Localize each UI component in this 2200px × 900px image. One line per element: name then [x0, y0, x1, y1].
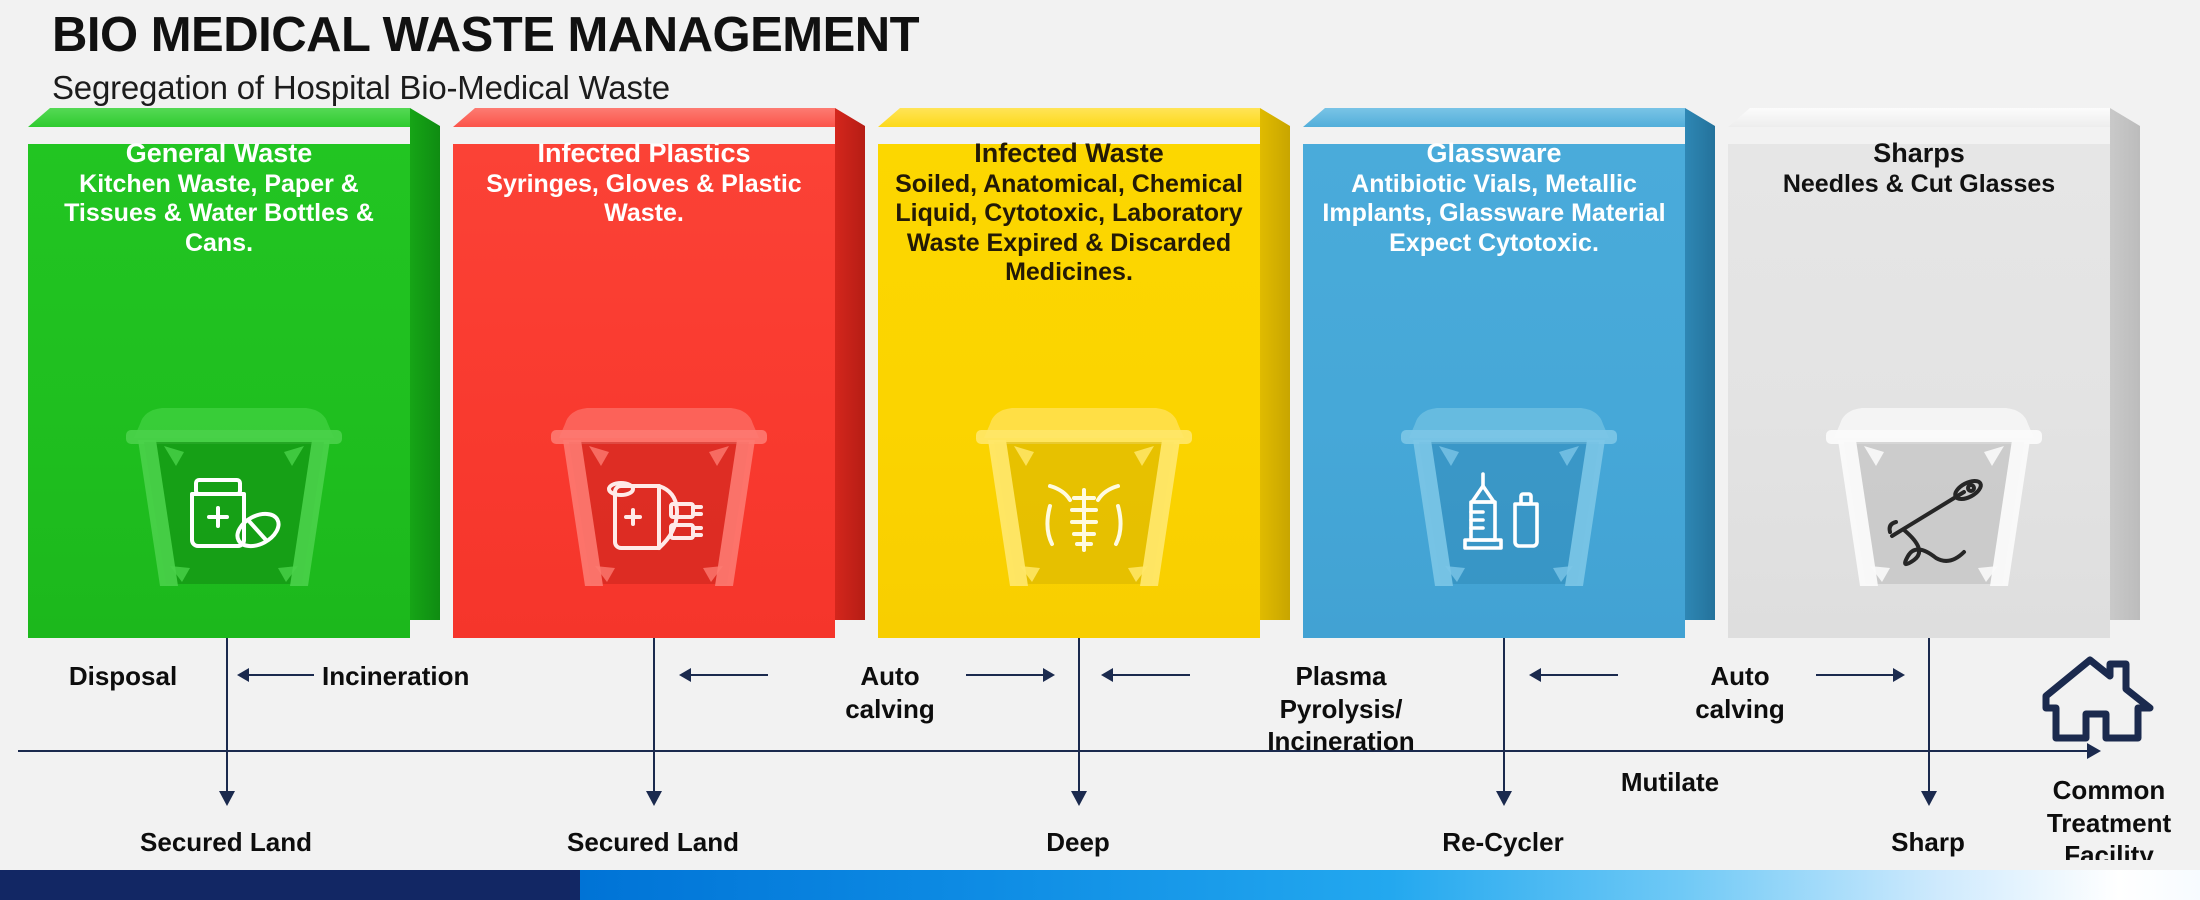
destination-common-treatment-facility: Common Treatment Facility: [2018, 774, 2200, 872]
arrow-left-autoclaving-1: [690, 674, 768, 676]
panel-bevel-side: [2110, 108, 2140, 620]
panel-bevel-side: [1685, 108, 1715, 620]
panel-bevel-side: [410, 108, 440, 620]
arrow-left-incineration: [248, 674, 314, 676]
label-incineration: Incineration: [322, 660, 582, 693]
drop-line-5: [1928, 638, 1930, 804]
bin-panel-glassware[interactable]: Glassware Antibiotic Vials, Metallic Imp…: [1303, 126, 1715, 638]
label-plasma-pyrolysis: Plasma Pyrolysis/ Incineration: [1206, 660, 1476, 758]
trash-bin-graphic-general-waste: [104, 394, 364, 599]
drop-line-1: [226, 638, 228, 804]
label-auto-calving-2: Auto calving: [1640, 660, 1840, 725]
panel-description: Kitchen Waste, Paper & Tissues & Water B…: [34, 170, 404, 259]
panel-title: Sharps: [1734, 138, 2104, 170]
panel-title: Glassware: [1309, 138, 1679, 170]
panel-title: Infected Waste: [884, 138, 1254, 170]
panel-text: Infected Plastics Syringes, Gloves & Pla…: [453, 138, 835, 229]
panel-bevel-top: [453, 108, 835, 127]
arrow-right-autoclaving-2: [1816, 674, 1894, 676]
arrow-left-autoclaving-2: [1540, 674, 1618, 676]
arrow-left-plasma-pyrolysis: [1112, 674, 1190, 676]
panel-text: Sharps Needles & Cut Glasses: [1728, 138, 2110, 199]
arrow-right-autoclaving-1: [966, 674, 1044, 676]
panel-bevel-top: [1728, 108, 2110, 127]
panel-bevel-top: [878, 108, 1260, 127]
panel-description: Syringes, Gloves & Plastic Waste.: [459, 170, 829, 229]
destination-re-cycler: Re-Cycler: [1383, 826, 1623, 859]
panel-description: Needles & Cut Glasses: [1734, 170, 2104, 200]
bin-panel-infected-waste[interactable]: Infected Waste Soiled, Anatomical, Chemi…: [878, 126, 1290, 638]
panel-title: General Waste: [34, 138, 404, 170]
bottom-spacer: [0, 860, 2200, 870]
label-auto-calving-1: Auto calving: [790, 660, 990, 725]
panel-bevel-side: [1260, 108, 1290, 620]
panel-description: Soiled, Anatomical, Chemical Liquid, Cyt…: [884, 170, 1254, 288]
bottom-bar-navy-segment: [0, 870, 580, 900]
bin-panel-general-waste[interactable]: General Waste Kitchen Waste, Paper & Tis…: [28, 126, 440, 638]
trash-bin-graphic-infected-waste: [954, 394, 1214, 599]
waste-category-panels: General Waste Kitchen Waste, Paper & Tis…: [0, 126, 2200, 638]
panel-bevel-top: [28, 108, 410, 127]
bottom-decorative-bar: [0, 870, 2200, 900]
drop-line-4: [1503, 638, 1505, 804]
bottom-bar-blue-gradient-segment: [580, 870, 2200, 900]
panel-bevel-side: [835, 108, 865, 620]
panel-bevel-top: [1303, 108, 1685, 127]
drop-line-2: [653, 638, 655, 804]
trash-bin-graphic-sharps: [1804, 394, 2064, 599]
panel-text: General Waste Kitchen Waste, Paper & Tis…: [28, 138, 410, 258]
treatment-flow-diagram: Disposal Incineration Auto calving Plasm…: [0, 638, 2200, 863]
page-subtitle: Segregation of Hospital Bio-Medical Wast…: [52, 69, 919, 107]
page-title: BIO MEDICAL WASTE MANAGEMENT: [52, 10, 919, 61]
flow-axis-line: [18, 750, 2088, 752]
trash-bin-graphic-infected-plastics: [529, 394, 789, 599]
page-header: BIO MEDICAL WASTE MANAGEMENT Segregation…: [52, 10, 919, 107]
label-mutilate: Mutilate: [1570, 766, 1770, 799]
bin-panel-infected-plastics[interactable]: Infected Plastics Syringes, Gloves & Pla…: [453, 126, 865, 638]
drop-line-3: [1078, 638, 1080, 804]
label-disposal: Disposal: [38, 660, 208, 693]
trash-bin-graphic-glassware: [1379, 394, 1639, 599]
panel-description: Antibiotic Vials, Metallic Implants, Gla…: [1309, 170, 1679, 259]
bin-panel-sharps[interactable]: Sharps Needles & Cut Glasses: [1728, 126, 2140, 638]
panel-text: Glassware Antibiotic Vials, Metallic Imp…: [1303, 138, 1685, 258]
panel-title: Infected Plastics: [459, 138, 829, 170]
panel-text: Infected Waste Soiled, Anatomical, Chemi…: [878, 138, 1260, 288]
house-icon: [2040, 652, 2156, 749]
